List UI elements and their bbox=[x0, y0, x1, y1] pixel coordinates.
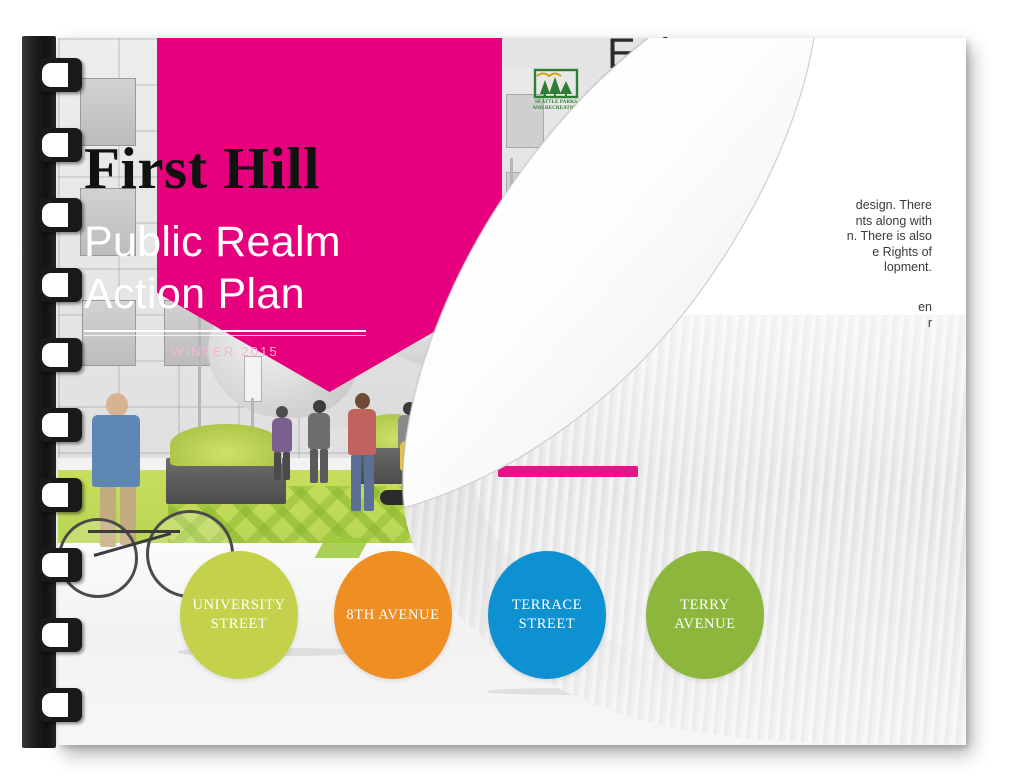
binding-ring bbox=[38, 478, 82, 512]
street-circle-label: STREET bbox=[519, 616, 576, 632]
binding-ring bbox=[38, 618, 82, 652]
street-circle-8th-avenue[interactable]: 8TH AVENUE bbox=[334, 551, 452, 679]
street-circle-label: AVENUE bbox=[674, 616, 735, 632]
street-circle-terrace-street[interactable]: TERRACE STREET bbox=[488, 551, 606, 679]
binding-ring bbox=[38, 548, 82, 582]
binding-ring bbox=[38, 688, 82, 722]
street-circle-label: STREET bbox=[211, 616, 268, 632]
report-cover-canvas: design. There nts along with n. There is… bbox=[0, 0, 1021, 776]
street-circle-nav: UNIVERSITY STREET 8TH AVENUE TERRACE STR… bbox=[0, 0, 1021, 776]
street-circle-label: UNIVERSITY bbox=[193, 597, 286, 613]
binding-ring bbox=[38, 268, 82, 302]
street-circle-label: 8TH AVENUE bbox=[346, 607, 439, 623]
binding-ring bbox=[38, 338, 82, 372]
spiral-binding bbox=[22, 36, 82, 748]
binding-ring bbox=[38, 128, 82, 162]
street-circle-label: TERRY bbox=[680, 597, 730, 613]
binding-ring bbox=[38, 58, 82, 92]
binding-ring bbox=[38, 408, 82, 442]
binding-ring bbox=[38, 198, 82, 232]
street-circle-label: TERRACE bbox=[512, 597, 582, 613]
street-circle-university-street[interactable]: UNIVERSITY STREET bbox=[180, 551, 298, 679]
street-circle-terry-avenue[interactable]: TERRY AVENUE bbox=[646, 551, 764, 679]
